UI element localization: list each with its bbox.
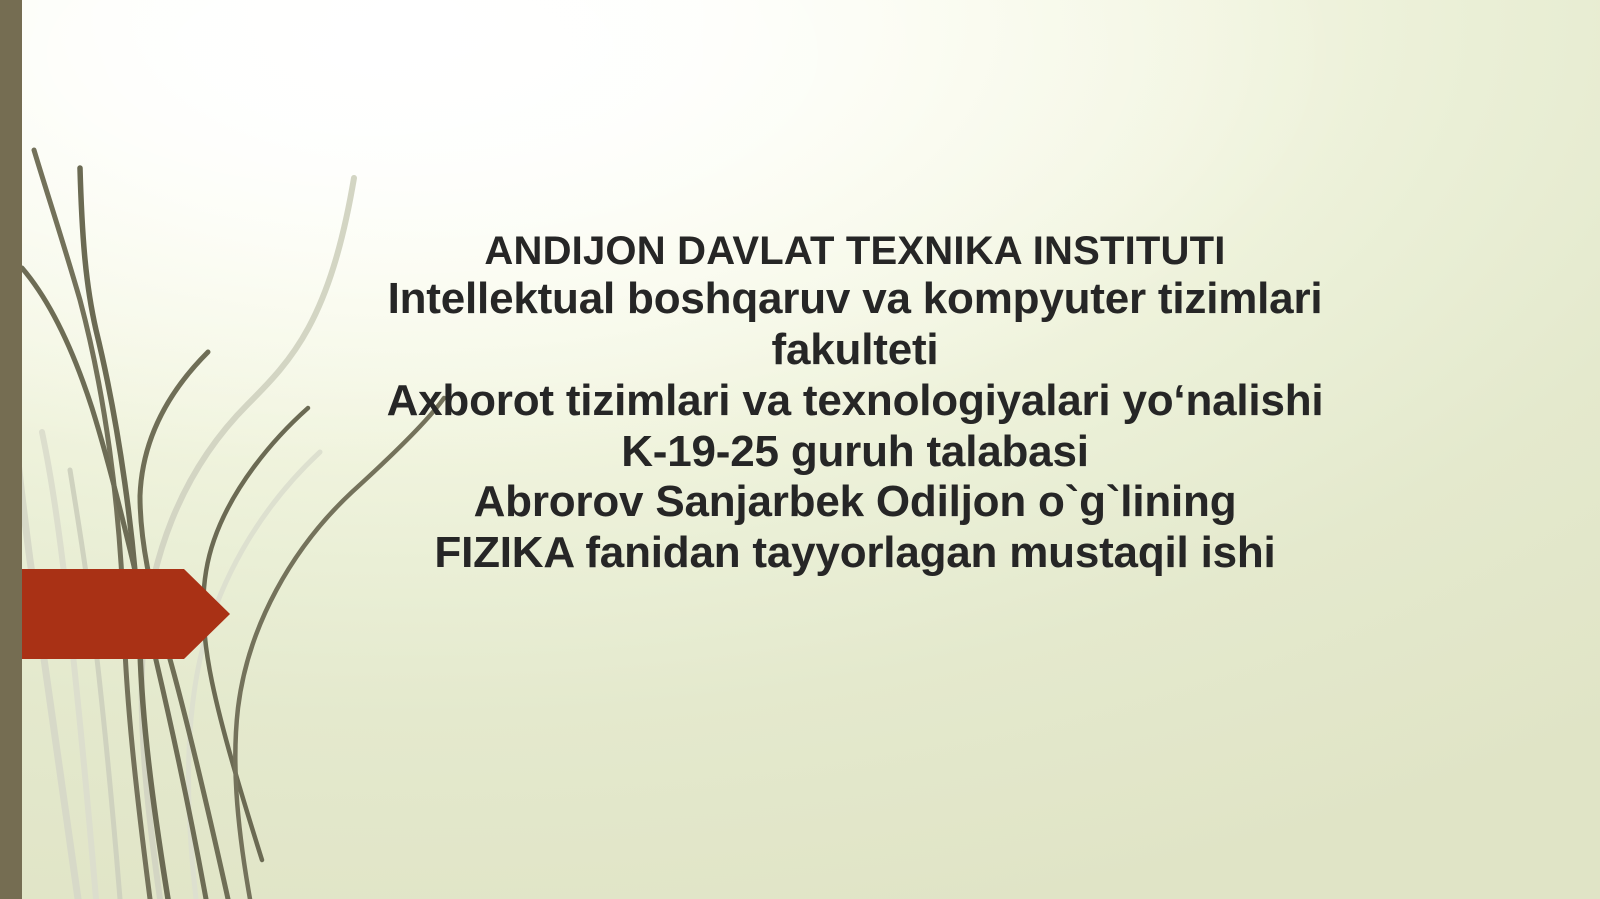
title-line-student: Abrorov Sanjarbek Odiljon o`g`lining [300,477,1410,528]
presentation-slide: ANDIJON DAVLAT TEXNIKA INSTITUTI Intelle… [0,0,1600,899]
slide-title-text-block: ANDIJON DAVLAT TEXNIKA INSTITUTI Intelle… [300,228,1410,579]
title-line-group: K-19-25 guruh talabasi [300,427,1410,478]
title-line-faculty-1: Intellektual boshqaruv va kompyuter tizi… [300,274,1410,325]
title-line-subject: FIZIKA fanidan tayyorlagan mustaqil ishi [300,528,1410,579]
left-olive-border [0,0,22,899]
red-arrow-banner [0,568,232,660]
title-line-institute: ANDIJON DAVLAT TEXNIKA INSTITUTI [300,228,1410,274]
title-line-faculty-2: fakulteti [300,325,1410,376]
title-line-direction: Axborot tizimlari va texnologiyalari yo‘… [300,376,1410,427]
